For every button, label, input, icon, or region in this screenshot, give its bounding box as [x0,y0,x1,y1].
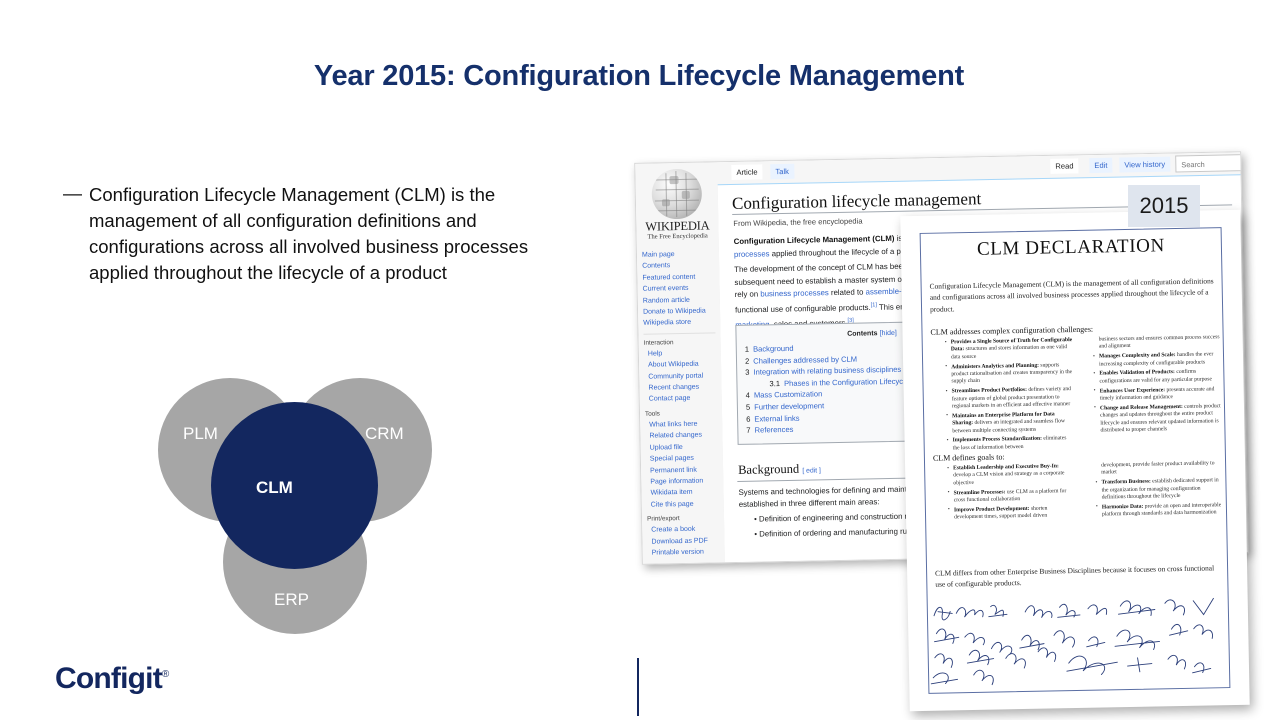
wikipedia-sidebar: WIKIPEDIA The Free Encyclopedia Main pag… [635,162,726,564]
challenge-bold: Implements Process Standardization: [953,436,1043,444]
challenge-text: structures and stores information as one… [951,345,1067,361]
sidebar-section-print-export: Print/export [647,514,724,522]
search-input[interactable] [1179,155,1249,171]
goal-bold: Harmonize Data: [1102,504,1144,511]
tab-read[interactable]: Read [1050,158,1078,174]
challenge-bold: Streamlines Product Portfolios: [952,387,1027,394]
section-list-item-1: Definition of engineering and constructi… [754,510,922,526]
goal-text: develop a CLM vision and strategy as a c… [953,471,1064,487]
bullet-paragraph: Configuration Lifecycle Management (CLM)… [89,182,533,286]
para2-line2: subsequent need to establish a master sy… [734,274,913,286]
para2-line1: The development of the concept of CLM ha… [734,262,914,274]
toc-label-7: References [755,425,794,435]
signatures-icon [928,588,1234,694]
challenge-item: Implements Process Standardization: elim… [948,435,1075,452]
wikipedia-nav: Main page Contents Featured content Curr… [637,248,725,559]
tab-talk[interactable]: Talk [770,164,794,179]
year-badge: 2015 [1128,185,1200,227]
goal-item: Establish Leadership and Executive Buy-I… [948,463,1075,488]
toc-label-4: Mass Customization [754,390,823,400]
challenge-item: Provides a Single Source of Truth for Co… [946,337,1073,362]
search-box[interactable] [1175,153,1249,172]
clm-declaration-document[interactable]: CLM DECLARATION Configuration Lifecycle … [900,210,1249,711]
tab-view-history[interactable]: View history [1119,157,1170,173]
toc-num-3: 3 [745,368,749,377]
toc-num-3-1: 3.1 [769,379,780,388]
challenge-bold: Change and Release Management: [1100,404,1183,412]
goal-item-continuation: development, provide faster product avai… [1096,460,1223,477]
section-p-line2: established in three different main area… [739,498,880,510]
challenges-column-left: Provides a Single Source of Truth for Co… [937,337,1075,455]
section-p-line1: Systems and technologies for defining an… [738,484,917,496]
challenge-item: Manages Complexity and Scale: handles th… [1094,351,1221,368]
goal-item: Transform Business: establish dedicated … [1096,477,1223,502]
declaration-goals-columns: Establish Leadership and Executive Buy-I… [939,460,1224,524]
goals-column-right: development, provide faster product avai… [1087,460,1224,522]
sidebar-link-cite-this-page[interactable]: Cite this page [651,498,724,511]
slide-root: Year 2015: Configuration Lifecycle Manag… [0,0,1278,716]
section-edit-link[interactable]: [ edit ] [802,467,821,474]
link-business-processes[interactable]: business processes [760,288,829,298]
lead-link-processes[interactable]: processes [734,249,770,259]
challenges-column-right: business sectors and ensures common proc… [1085,334,1223,452]
bullet-dash-marker: — [63,182,89,208]
toc-label-5: Further development [754,401,824,411]
wikipedia-tagline: The Free Encyclopedia [639,232,717,240]
toc-num-4: 4 [746,391,750,400]
goals-column-left: Establish Leadership and Executive Buy-I… [939,463,1076,525]
toc-label-3-1: Phases in the Configuration Lifecycle [784,376,909,387]
venn-label-plm: PLM [183,425,218,442]
challenge-item: Enhances User Experience: presents accur… [1095,386,1222,403]
venn-circle-clm [211,402,378,569]
sidebar-divider [643,332,715,334]
sidebar-section-interaction: Interaction [644,338,721,346]
toc-num-1: 1 [745,345,749,354]
para2-line3a: rely on [735,290,761,299]
toc-num-6: 6 [746,414,750,423]
section-heading-background: Background [ edit ] [738,461,821,478]
challenge-text: business sectors and ensures common proc… [1099,334,1220,350]
goal-text: development, provide faster product avai… [1101,460,1215,476]
sidebar-link-contact-page[interactable]: Contact page [649,393,722,406]
toc-label-6: External links [754,413,799,423]
goal-bold: Transform Business: [1101,479,1151,486]
toc-num-7: 7 [746,426,750,435]
para2-line3b: related to [829,288,866,298]
goal-bold: Improve Product Development: [954,506,1030,513]
venn-label-crm: CRM [365,425,404,442]
goal-item: Streamline Processes: use CLM as a platf… [949,488,1076,505]
declaration-goals-heading: CLM defines goals to: [933,452,1005,462]
bullet-block: — Configuration Lifecycle Management (CL… [63,182,533,286]
declaration-lead: Configuration Lifecycle Management (CLM)… [930,275,1217,315]
declaration-challenges-columns: Provides a Single Source of Truth for Co… [937,334,1223,455]
toc-label-1: Background [753,344,794,354]
registered-mark-icon: ® [162,669,169,680]
screenshot-collage: WIKIPEDIA The Free Encyclopedia Main pag… [620,145,1270,720]
challenge-item-continuation: business sectors and ensures common proc… [1094,334,1221,351]
lead-line2-rest: applied throughout the lifecycle of a pr… [769,246,911,258]
challenge-item: Administers Analytics and Planning: supp… [946,362,1073,387]
configit-logo: Configit® [55,662,168,696]
tab-article[interactable]: Article [731,164,762,180]
toc-label-2: Challenges addressed by CLM [753,354,857,365]
page-title: Year 2015: Configuration Lifecycle Manag… [0,60,1278,93]
venn-label-erp: ERP [274,591,309,608]
goal-item: Improve Product Development: shorten dev… [949,505,1076,522]
venn-label-clm: CLM [256,479,293,496]
sidebar-link-store[interactable]: Wikipedia store [643,317,720,330]
toc-hide-link[interactable]: [hide] [880,330,897,337]
toc-num-2: 2 [745,356,749,365]
section-list-item-2: Definition of ordering and manufacturing… [754,525,925,541]
wikipedia-globe-icon [651,169,702,220]
challenge-item: Change and Release Management: controls … [1095,403,1223,435]
challenge-bold: Manages Complexity and Scale: [1099,352,1176,359]
section-heading-text: Background [738,462,799,477]
toc-title-label: Contents [847,330,877,338]
venn-diagram: PLM CRM ERP CLM [152,372,442,642]
lead-bold-term: Configuration Lifecycle Management (CLM) [734,234,895,246]
goal-item: Harmonize Data: provide an open and inte… [1097,502,1224,519]
logo-text: Configit [55,662,162,695]
para2-line4: functional use of configurable products. [735,303,871,315]
challenge-bold: Administers Analytics and Planning: [951,362,1039,370]
article-subtitle: From Wikipedia, the free encyclopedia [733,216,862,227]
signatures-block [928,588,1234,694]
sidebar-link-printable-version[interactable]: Printable version [652,546,725,559]
challenge-bold: Enables Validation of Products: [1099,369,1175,376]
tab-edit[interactable]: Edit [1089,158,1112,173]
goal-bold: Streamline Processes: [954,489,1006,496]
challenge-bold: Enhances User Experience: [1100,387,1166,394]
challenge-item: Streamlines Product Portfolios: defines … [947,386,1074,411]
challenge-item: Enables Validation of Products: confirms… [1094,369,1221,386]
toc-num-5: 5 [746,403,750,412]
sidebar-section-tools: Tools [645,409,722,417]
challenge-item: Maintains an Enterprise Platform for Dat… [947,411,1074,436]
